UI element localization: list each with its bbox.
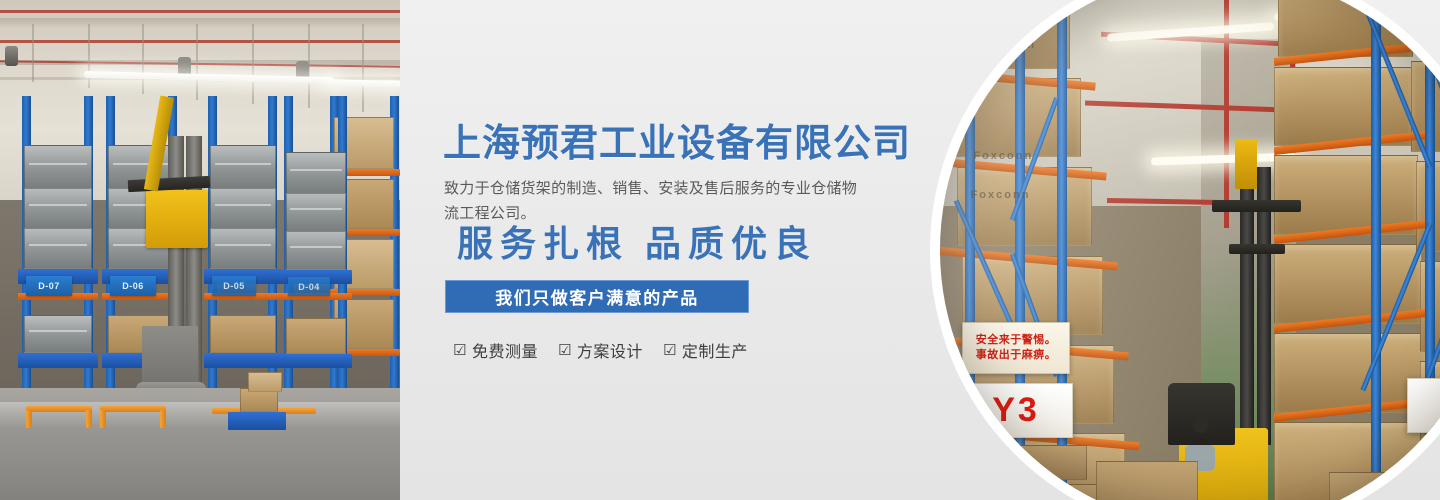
rack-tower: D-07 [22,96,94,396]
ceiling-purlin [196,24,198,100]
feature-item-free-measure: ☑ 免费测量 [453,338,538,362]
rack-guard-leg [100,410,106,428]
rack-location-sign: D-05 [212,276,256,296]
sprinkler-pipe [0,40,400,43]
feature-item-scheme-design: ☑ 方案设计 [558,338,643,362]
safety-sign: 安全来于警惕。 事故出于麻痹。 [962,322,1070,374]
checkbox-checked-icon: ☑ [558,343,572,358]
hero-slogan: 服务扎根 品质优良 [457,225,817,265]
right-circle-photo-frame: Foxconn Foxconn Foxconn Foxconn Foxconn [930,0,1440,500]
reach-truck-mast-top [1235,139,1257,189]
vna-truck-cab [146,190,208,248]
floor-carton [248,372,282,392]
ceiling-purlin [142,24,144,94]
reach-truck-crossbar [1229,244,1285,254]
safety-sign-line-2: 事故出于麻痹。 [976,348,1057,363]
ceiling-purlin [32,24,34,82]
sprinkler-pipe [0,10,400,13]
rack-guard [100,406,166,412]
floor-pallet [228,412,286,430]
rack-guard-leg [26,410,32,428]
rack-guard-leg [86,410,92,428]
operator-head [1193,417,1209,433]
feature-label: 定制生产 [682,338,748,362]
ceiling-beam [0,18,400,27]
rack-location-sign: D-07 [26,276,72,296]
feature-label: 免费测量 [472,338,538,362]
aisle-sign-y3-left: Y3 [959,383,1072,438]
hero-banner: D-07 D-06 D-05 [0,0,1440,500]
rack-location-sign: D-04 [288,277,330,296]
hero-content: 上海预君工业设备有限公司 致力于仓储货架的制造、销售、安装及售后服务的专业仓储物… [443,0,963,500]
feature-list: ☑ 免费测量 ☑ 方案设计 ☑ 定制生产 [453,338,748,362]
floor-pallet-stack [962,484,1109,500]
checkbox-checked-icon: ☑ [453,343,467,358]
floor-carton-stack [1329,472,1440,500]
ceiling-fixture [5,46,18,66]
checkbox-checked-icon: ☑ [663,343,677,358]
safety-sign-line-1: 安全来于警惕。 [976,333,1057,348]
rack-guard [26,406,92,412]
floor-pallet-stack [951,445,1086,480]
cta-button[interactable]: 我们只做客户满意的产品 [445,280,749,313]
left-warehouse-photo: D-07 D-06 D-05 [0,0,400,500]
company-title: 上海预君工业设备有限公司 [443,125,911,163]
company-subtitle: 致力于仓储货架的制造、销售、安装及售后服务的专业仓储物流工程公司。 [444,177,864,227]
rack-tower: D-04 [284,96,348,396]
floor-carton-stack [1096,461,1198,500]
ceiling-purlin [252,24,254,104]
reach-truck-mast [1240,155,1254,444]
reach-truck-overhead-guard [1168,383,1235,444]
aisle-sign-y3-right: Y3 [1407,378,1440,433]
feature-label: 方案设计 [577,338,643,362]
ceiling-purlin [88,24,90,88]
right-warehouse-photo: Foxconn Foxconn Foxconn Foxconn Foxconn [940,0,1440,500]
feature-item-custom-production: ☑ 定制生产 [663,338,748,362]
rack-tower: D-05 [208,96,278,396]
warehouse-floor [0,388,400,500]
reach-truck-crossbar [1212,200,1301,212]
rack-guard-leg [160,410,166,428]
rack-location-sign: D-06 [110,276,156,296]
